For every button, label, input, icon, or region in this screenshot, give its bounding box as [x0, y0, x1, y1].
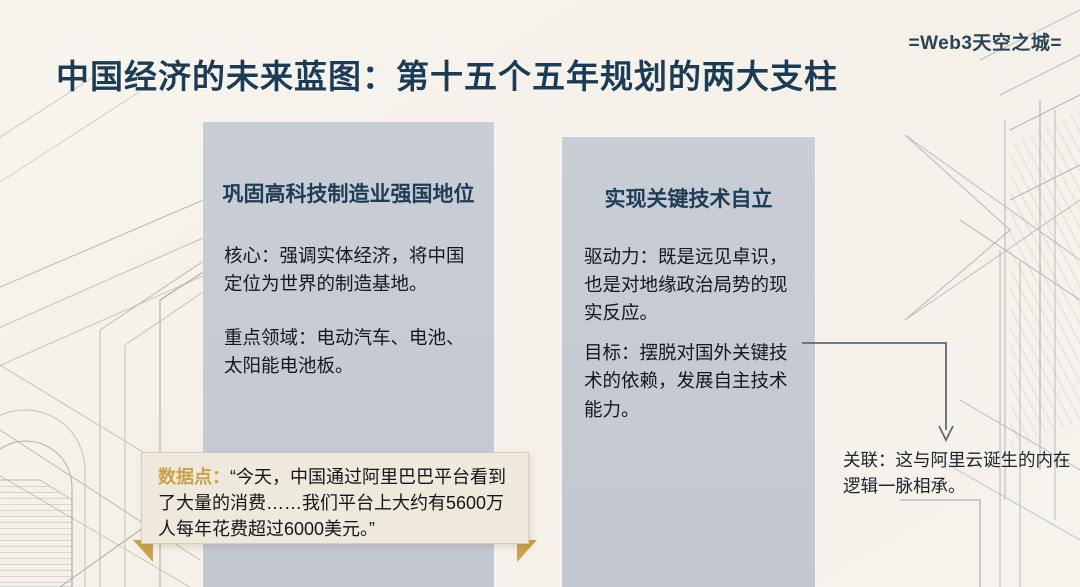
pillar-paragraph: 驱动力：既是远见卓识，也是对地缘政治局势的现实反应。	[584, 243, 799, 327]
connector-arrow	[800, 330, 960, 465]
watermark-label: =Web3天空之城=	[908, 28, 1062, 55]
pillar-card-technology: 实现关键技术自立 驱动力：既是远见卓识，也是对地缘政治局势的现实反应。 目标：摆…	[562, 137, 815, 587]
relation-note: 关联：这与阿里云诞生的内在逻辑一脉相承。	[843, 447, 1071, 500]
pillar-paragraph: 重点领域：电动汽车、电池、太阳能电池板。	[224, 324, 476, 380]
page-title: 中国经济的未来蓝图：第十五个五年规划的两大支柱	[56, 50, 838, 98]
pillar-paragraph: 核心：强调实体经济，将中国定位为世界的制造基地。	[224, 242, 476, 298]
callout-box: 数据点：“今天，中国通过阿里巴巴平台看到了大量的消费……我们平台上大约有5600…	[141, 452, 529, 544]
pillar-card-body: 核心：强调实体经济，将中国定位为世界的制造基地。 重点领域：电动汽车、电池、太阳…	[224, 242, 476, 380]
pillar-card-body: 驱动力：既是远见卓识，也是对地缘政治局势的现实反应。 目标：摆脱对国外关键技术的…	[584, 243, 799, 424]
slide-canvas: =Web3天空之城= 中国经济的未来蓝图：第十五个五年规划的两大支柱 巩固高科技…	[0, 0, 1080, 587]
data-point-callout: 数据点：“今天，中国通过阿里巴巴平台看到了大量的消费……我们平台上大约有5600…	[133, 452, 537, 562]
pillar-paragraph: 目标：摆脱对国外关键技术的依赖，发展自主技术能力。	[584, 339, 799, 423]
callout-text: 数据点：“今天，中国通过阿里巴巴平台看到了大量的消费……我们平台上大约有5600…	[158, 465, 514, 543]
pillar-card-heading: 巩固高科技制造业强国地位	[203, 178, 494, 208]
callout-label: 数据点：	[158, 467, 230, 487]
pillar-card-heading: 实现关键技术自立	[562, 183, 815, 213]
